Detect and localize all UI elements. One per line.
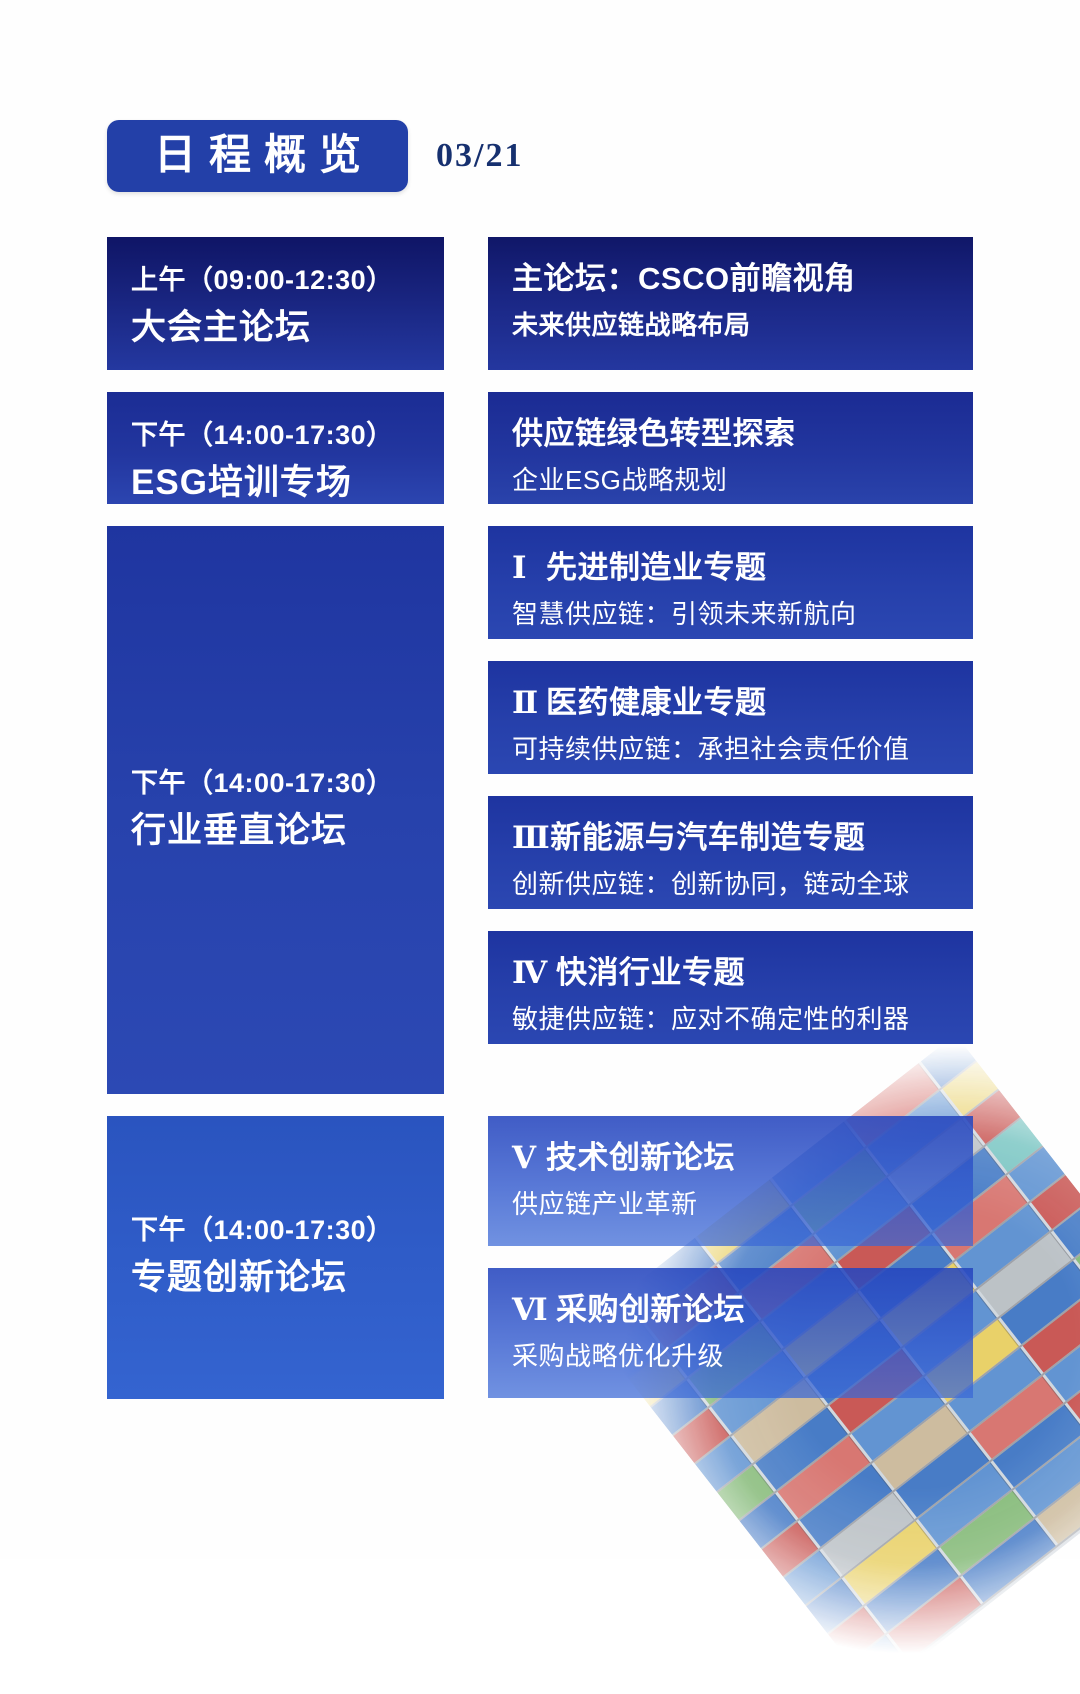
session-card-procurement-innovation[interactable]: Ⅵ采购创新论坛 采购战略优化升级 <box>488 1268 973 1398</box>
agenda-date: 03/21 <box>436 137 523 175</box>
session-title: 主论坛：CSCO前瞻视角 <box>512 259 973 299</box>
session-title-text: 采购创新论坛 <box>556 1292 745 1327</box>
slot-title: 行业垂直论坛 <box>131 807 444 854</box>
schedule-row: 下午（14:00-17:30） 行业垂直论坛 Ⅰ先进制造业专题 智慧供应链：引领… <box>107 526 973 1094</box>
session-title: Ⅱ医药健康业专题 <box>512 683 973 723</box>
session-subtitle: 企业ESG战略规划 <box>512 464 973 498</box>
session-title: Ⅰ先进制造业专题 <box>512 548 973 588</box>
session-title: Ⅲ新能源与汽车制造专题 <box>512 818 973 858</box>
session-subtitle: 供应链产业革新 <box>512 1188 973 1222</box>
session-list: Ⅰ先进制造业专题 智慧供应链：引领未来新航向 Ⅱ医药健康业专题 可持续供应链：承… <box>488 526 973 1094</box>
session-index: Ⅱ <box>512 683 546 723</box>
page-title-badge: 日程概览 <box>107 120 408 192</box>
session-card-pharma-health[interactable]: Ⅱ医药健康业专题 可持续供应链：承担社会责任价值 <box>488 661 973 774</box>
time-slot-innovation-forum: 下午（14:00-17:30） 专题创新论坛 <box>107 1116 444 1399</box>
schedule-grid: 上午（09:00-12:30） 大会主论坛 主论坛：CSCO前瞻视角 未来供应链… <box>107 237 973 1421</box>
time-slot-vertical-forum: 下午（14:00-17:30） 行业垂直论坛 <box>107 526 444 1094</box>
session-card-fmcg[interactable]: Ⅳ快消行业专题 敏捷供应链：应对不确定性的利器 <box>488 931 973 1044</box>
session-card-tech-innovation[interactable]: Ⅴ技术创新论坛 供应链产业革新 <box>488 1116 973 1246</box>
session-title: Ⅵ采购创新论坛 <box>512 1290 973 1330</box>
slot-title: 大会主论坛 <box>131 304 444 351</box>
session-subtitle: 未来供应链战略布局 <box>512 309 973 343</box>
slot-time: 下午（14:00-17:30） <box>131 418 444 453</box>
slot-title: ESG培训专场 <box>131 459 444 506</box>
session-list: 供应链绿色转型探索 企业ESG战略规划 <box>488 392 973 504</box>
session-index: Ⅰ <box>512 548 546 588</box>
schedule-row: 下午（14:00-17:30） 专题创新论坛 Ⅴ技术创新论坛 供应链产业革新 Ⅵ… <box>107 1116 973 1399</box>
session-list: 主论坛：CSCO前瞻视角 未来供应链战略布局 <box>488 237 973 370</box>
session-subtitle: 可持续供应链：承担社会责任价值 <box>512 733 973 767</box>
session-card-advanced-manufacturing[interactable]: Ⅰ先进制造业专题 智慧供应链：引领未来新航向 <box>488 526 973 639</box>
session-title: Ⅴ技术创新论坛 <box>512 1138 973 1178</box>
session-card-esg[interactable]: 供应链绿色转型探索 企业ESG战略规划 <box>488 392 973 504</box>
session-title-text: 技术创新论坛 <box>546 1140 735 1175</box>
schedule-row: 上午（09:00-12:30） 大会主论坛 主论坛：CSCO前瞻视角 未来供应链… <box>107 237 973 370</box>
session-index: Ⅴ <box>512 1138 546 1178</box>
session-subtitle: 敏捷供应链：应对不确定性的利器 <box>512 1003 973 1037</box>
session-title-text: 快消行业专题 <box>556 955 745 990</box>
schedule-row: 下午（14:00-17:30） ESG培训专场 供应链绿色转型探索 企业ESG战… <box>107 392 973 504</box>
session-title-text: 医药健康业专题 <box>546 685 767 720</box>
slot-title: 专题创新论坛 <box>131 1254 444 1301</box>
session-list: Ⅴ技术创新论坛 供应链产业革新 Ⅵ采购创新论坛 采购战略优化升级 <box>488 1116 973 1399</box>
time-slot-esg: 下午（14:00-17:30） ESG培训专场 <box>107 392 444 504</box>
page-header: 日程概览 03/21 <box>107 120 523 192</box>
session-title: 供应链绿色转型探索 <box>512 414 973 454</box>
time-slot-main-forum: 上午（09:00-12:30） 大会主论坛 <box>107 237 444 370</box>
agenda-poster: 日程概览 03/21 上午（09:00-12:30） 大会主论坛 主论坛：CSC… <box>0 0 1080 1559</box>
session-index: Ⅳ <box>512 953 556 993</box>
session-index: Ⅲ <box>512 818 550 858</box>
session-subtitle: 创新供应链：创新协同，链动全球 <box>512 868 973 902</box>
session-title-text: 先进制造业专题 <box>546 550 767 585</box>
session-index: Ⅵ <box>512 1290 556 1330</box>
session-title-text: 新能源与汽车制造专题 <box>550 820 865 855</box>
session-subtitle: 智慧供应链：引领未来新航向 <box>512 598 973 632</box>
slot-time: 下午（14:00-17:30） <box>131 1213 444 1248</box>
session-card-new-energy-auto[interactable]: Ⅲ新能源与汽车制造专题 创新供应链：创新协同，链动全球 <box>488 796 973 909</box>
slot-time: 上午（09:00-12:30） <box>131 263 444 298</box>
session-subtitle: 采购战略优化升级 <box>512 1340 973 1374</box>
slot-time: 下午（14:00-17:30） <box>131 766 444 801</box>
session-card-main-forum[interactable]: 主论坛：CSCO前瞻视角 未来供应链战略布局 <box>488 237 973 370</box>
session-title: Ⅳ快消行业专题 <box>512 953 973 993</box>
